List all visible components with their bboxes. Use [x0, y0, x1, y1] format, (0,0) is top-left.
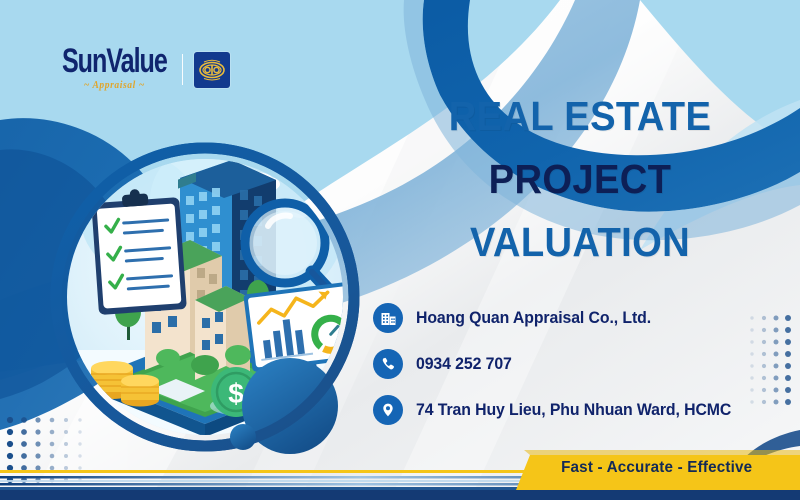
contact-row-company[interactable]: Hoang Quan Appraisal Co., Ltd.: [373, 303, 744, 333]
building-icon: [373, 303, 403, 333]
marketing-banner: $: [0, 0, 800, 500]
headline-line-2: PROJECT: [403, 159, 756, 200]
logo-main-text: SunValue: [62, 44, 167, 78]
company-name-text: Hoang Quan Appraisal Co., Ltd.: [416, 309, 651, 328]
map-pin-icon: [373, 395, 403, 425]
contact-row-address[interactable]: 74 Tran Huy Lieu, Phu Nhuan Ward, HCMC: [373, 395, 744, 425]
tagline-text: Fast - Accurate - Effective: [561, 459, 752, 477]
contact-list: Hoang Quan Appraisal Co., Ltd. 0934 252 …: [373, 303, 744, 425]
headline-block: REAL ESTATE PROJECT VALUATION: [390, 96, 770, 263]
logo-wordmark: SunValue ~ Appraisal ~: [58, 48, 171, 92]
brand-logo[interactable]: SunValue ~ Appraisal ~: [58, 48, 230, 92]
contact-row-phone[interactable]: 0934 252 707: [373, 349, 744, 379]
hoang-quan-emblem-icon: [194, 52, 230, 88]
phone-icon: [373, 349, 403, 379]
logo-divider: [182, 54, 184, 85]
logo-sub-text: ~ Appraisal ~: [84, 82, 145, 92]
svg-text:$: $: [228, 378, 244, 409]
headline-line-1: REAL ESTATE: [403, 96, 756, 137]
address-text: 74 Tran Huy Lieu, Phu Nhuan Ward, HCMC: [416, 401, 731, 420]
phone-number-text: 0934 252 707: [416, 355, 512, 374]
headline-line-3: VALUATION: [403, 222, 756, 263]
